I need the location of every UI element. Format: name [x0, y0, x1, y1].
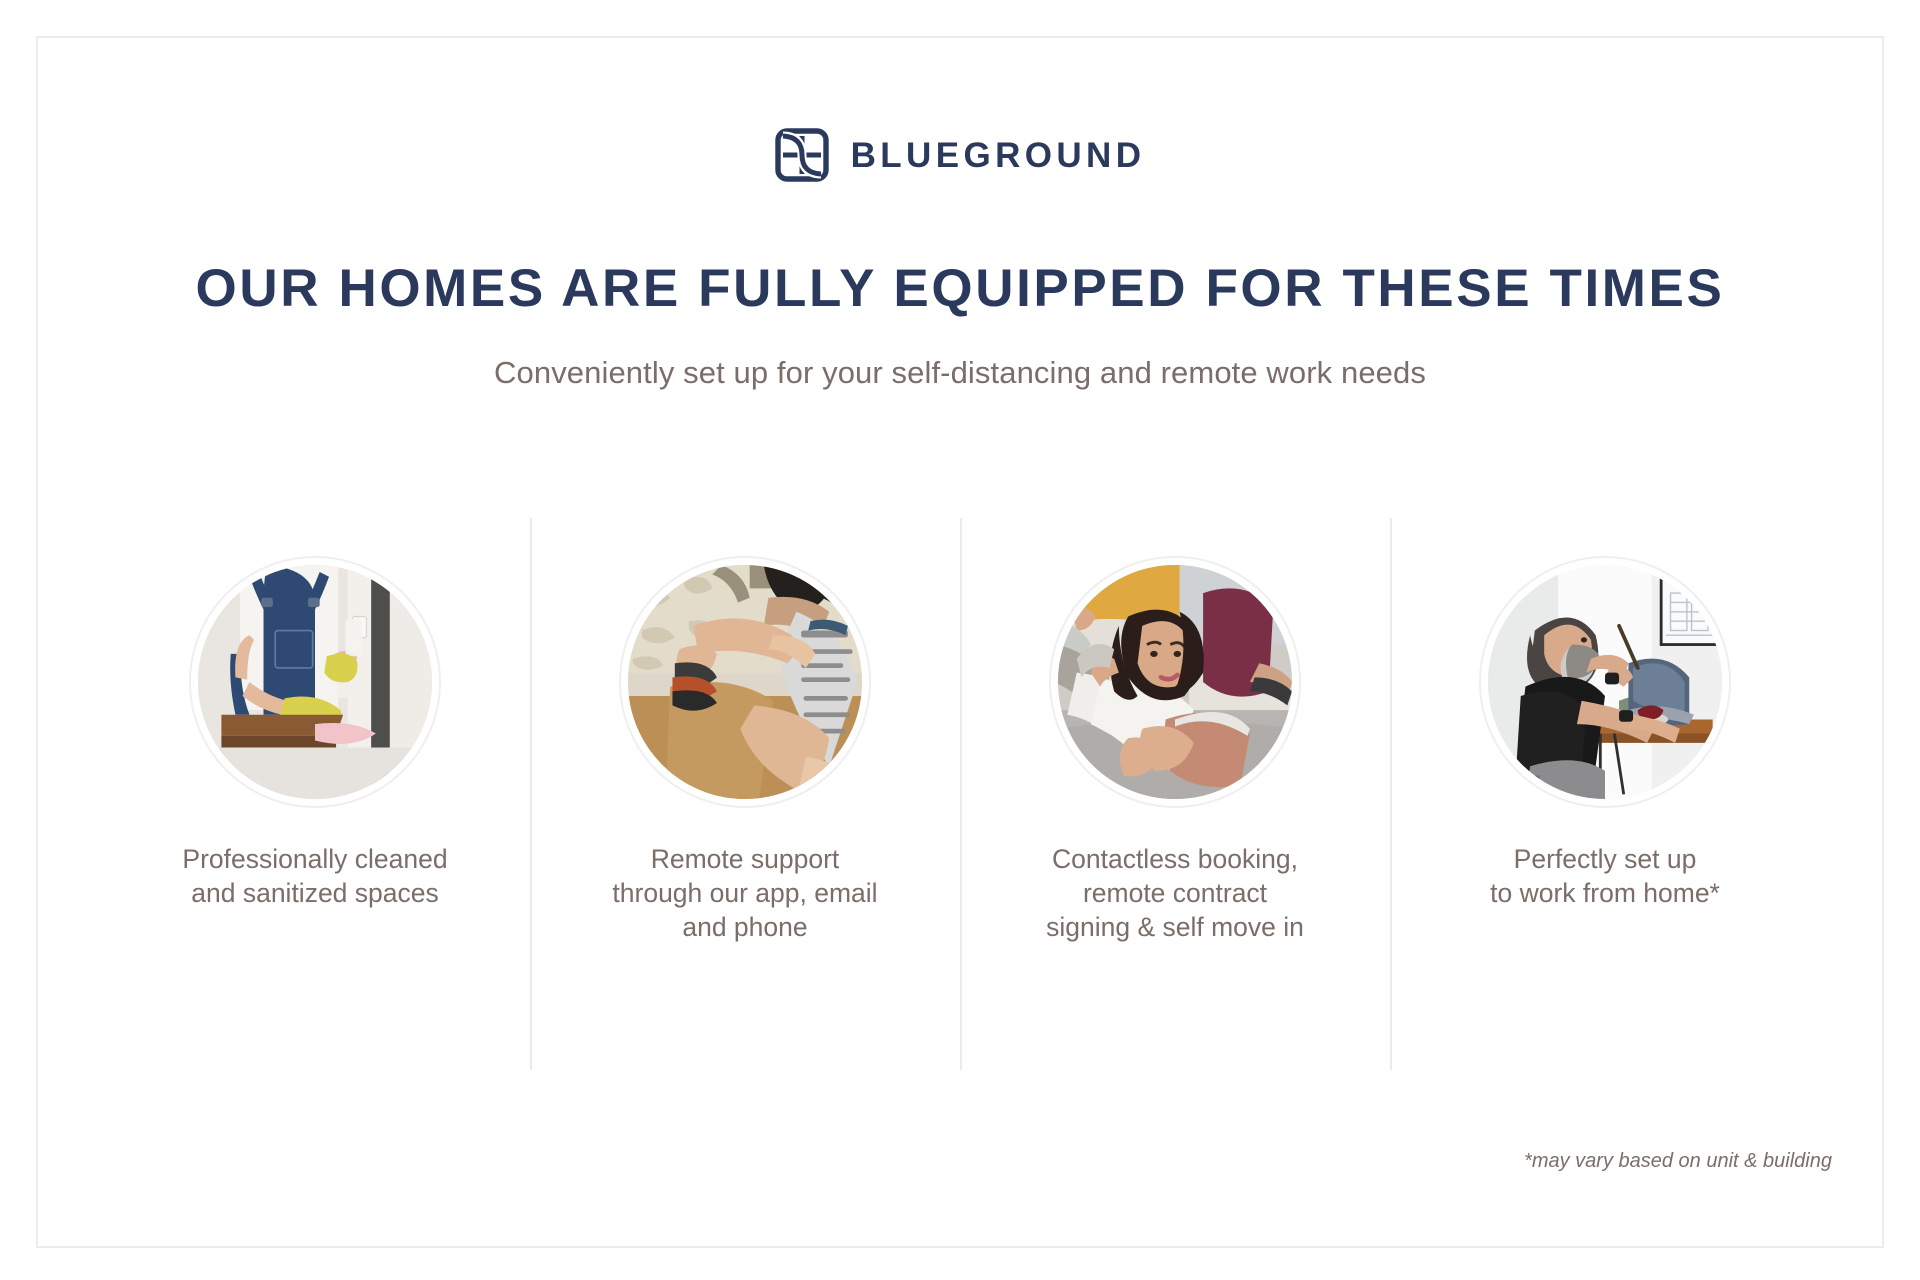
feature-card: Perfectly set up to work from home*	[1390, 518, 1820, 1070]
brand-wordmark: BLUEGROUND	[851, 138, 1146, 173]
feature-thumbnail	[619, 556, 871, 808]
feature-caption: Remote support through our app, email an…	[612, 843, 877, 945]
feature-caption: Contactless booking, remote contract sig…	[1046, 843, 1304, 945]
hands-using-smartphone-photo	[628, 565, 862, 799]
feature-card: Professionally cleaned and sanitized spa…	[100, 518, 530, 1070]
blueground-square-mark-icon	[775, 128, 829, 182]
feature-caption: Perfectly set up to work from home*	[1490, 843, 1720, 911]
feature-thumbnail	[189, 556, 441, 808]
page-subtitle: Conveniently set up for your self-distan…	[0, 355, 1920, 391]
feature-card: Remote support through our app, email an…	[530, 518, 960, 1070]
feature-caption: Professionally cleaned and sanitized spa…	[182, 843, 447, 911]
feature-card: Contactless booking, remote contract sig…	[960, 518, 1390, 1070]
feature-thumbnail	[1479, 556, 1731, 808]
feature-card-row: Professionally cleaned and sanitized spa…	[100, 518, 1820, 1070]
page-title: OUR HOMES ARE FULLY EQUIPPED FOR THESE T…	[0, 258, 1920, 319]
man-working-at-desk-photo	[1488, 565, 1722, 799]
brand-lockup: BLUEGROUND	[0, 128, 1920, 182]
cleaner-wiping-counter-photo	[198, 565, 432, 799]
woman-on-bed-with-tablet-photo	[1058, 565, 1292, 799]
footnote-disclaimer: *may vary based on unit & building	[1524, 1150, 1832, 1173]
promo-banner: BLUEGROUND OUR HOMES ARE FULLY EQUIPPED …	[0, 0, 1920, 1280]
feature-thumbnail	[1049, 556, 1301, 808]
